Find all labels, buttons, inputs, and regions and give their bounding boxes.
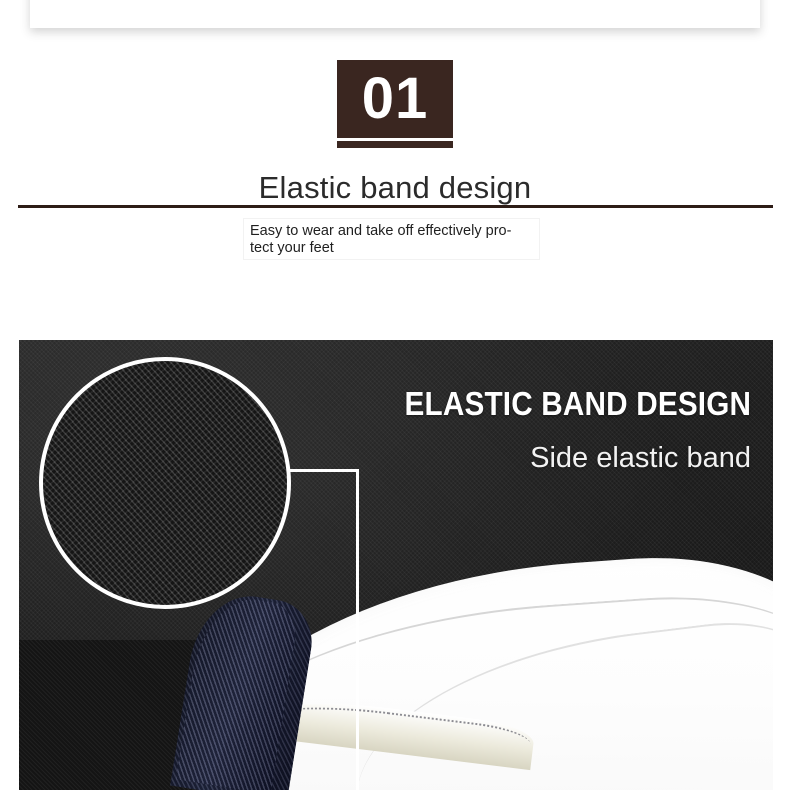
- section-title: Elastic band design: [0, 170, 790, 206]
- partial-content-card: [30, 0, 760, 28]
- top-card-region: [0, 0, 790, 30]
- callout-leader-line-horizontal: [287, 469, 359, 472]
- photo-overlay-title: ELASTIC BAND DESIGN: [404, 385, 751, 423]
- badge-container: 01: [0, 60, 790, 148]
- step-number-badge: 01: [337, 60, 453, 138]
- callout-leader-line-vertical: [356, 469, 359, 790]
- section-header: 01 Elastic band design: [0, 60, 790, 206]
- step-number-text: 01: [343, 66, 447, 132]
- section-subtitle: Easy to wear and take off effectively pr…: [250, 223, 533, 257]
- photo-overlay-subtitle: Side elastic band: [530, 442, 751, 475]
- badge-underline-bar: [337, 141, 453, 148]
- subtitle-box: Easy to wear and take off effectively pr…: [243, 218, 540, 260]
- product-photo: ELASTIC BAND DESIGN Side elastic band: [19, 340, 773, 790]
- horizontal-divider: [18, 205, 773, 208]
- fabric-texture-magnifier-icon: [39, 357, 291, 609]
